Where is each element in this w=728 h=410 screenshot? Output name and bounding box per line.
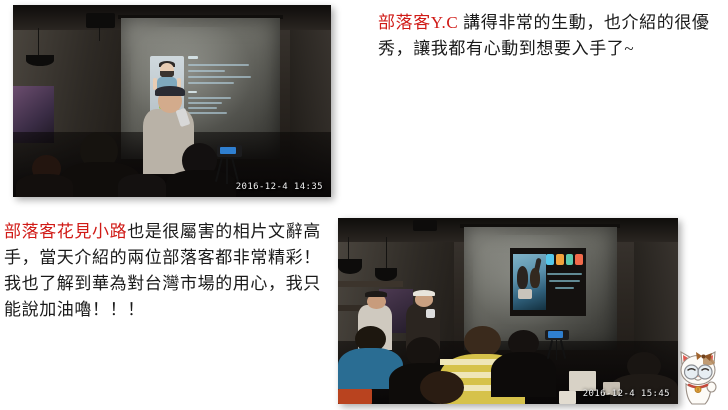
audience-torso bbox=[118, 174, 166, 197]
lamp-wire bbox=[38, 28, 39, 55]
lamp-shade bbox=[338, 259, 362, 274]
slide-content bbox=[510, 248, 587, 316]
audience-torso bbox=[491, 352, 556, 397]
slide-photo bbox=[513, 254, 547, 311]
projector-box bbox=[86, 13, 115, 28]
cat-mascot-icon bbox=[672, 348, 724, 406]
slide-caption-lines bbox=[546, 271, 583, 301]
lamp-wire bbox=[348, 237, 349, 259]
table-item bbox=[338, 389, 372, 404]
camera-screen bbox=[220, 147, 236, 154]
photo-top-left-scene bbox=[13, 5, 331, 197]
slide-photo-person bbox=[530, 268, 540, 287]
photo-bottom-right: 2016-12-4 15:45 bbox=[338, 218, 678, 404]
photo-timestamp: 2016-12-4 15:45 bbox=[583, 389, 670, 399]
photo-bottom-right-scene bbox=[338, 218, 678, 404]
table-item bbox=[569, 371, 596, 391]
projector-box bbox=[413, 220, 437, 231]
shelf bbox=[338, 281, 403, 287]
speaker-cap bbox=[413, 290, 435, 297]
audience-head bbox=[420, 371, 464, 404]
tripod-leg bbox=[556, 340, 558, 360]
lamp-wire bbox=[386, 237, 387, 269]
attendee-hair bbox=[365, 291, 387, 297]
camera-screen bbox=[548, 331, 563, 338]
table-item bbox=[559, 391, 576, 404]
tripod-leg bbox=[226, 157, 228, 184]
caption-top-right: 部落客Y.C 講得非常的生動，也介紹的很優秀，讓我都有心動到想要入手了~ bbox=[378, 10, 718, 62]
slide-brand-logo bbox=[546, 254, 583, 265]
caption-bottom-left: 部落客花見小路也是很屬害的相片文辭高手，當天介紹的兩位部落客都非常精彩！ 我也了… bbox=[4, 219, 334, 323]
slide-canvas: 2016-12-4 14:35 bbox=[0, 0, 728, 410]
photo-timestamp: 2016-12-4 14:35 bbox=[236, 182, 323, 192]
speaker-cap bbox=[155, 86, 185, 97]
blogger-name-highlight: 部落客花見小路 bbox=[4, 222, 127, 241]
blogger-name-highlight: 部落客Y.C bbox=[378, 13, 458, 32]
slide-text-lines bbox=[188, 55, 251, 117]
audience-torso bbox=[16, 174, 73, 197]
cat-mascot-watermark bbox=[672, 348, 724, 406]
microphone bbox=[426, 309, 435, 318]
slide-photo-camera bbox=[518, 289, 531, 299]
photo-top-left: 2016-12-4 14:35 bbox=[13, 5, 331, 197]
slide-photo-person bbox=[517, 266, 528, 289]
